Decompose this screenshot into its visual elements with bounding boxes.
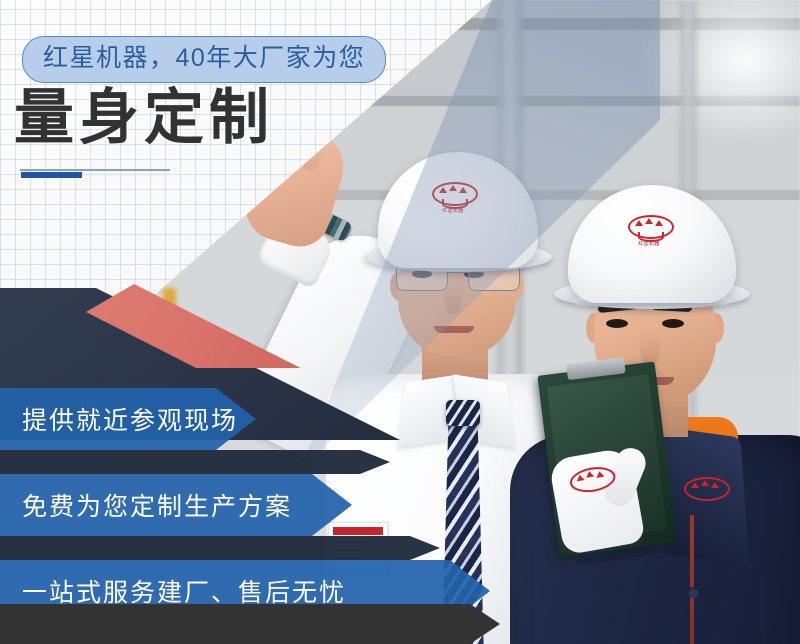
badge-red-band: [333, 527, 383, 535]
white-hard-hat: 红星机器: [568, 185, 736, 303]
jacket-zipper: [690, 515, 694, 644]
logo-star-icon: [711, 482, 719, 488]
promo-banner: 红星机器: [0, 0, 800, 644]
feature-bar-2-label: 免费为您定制生产方案: [0, 487, 292, 523]
title-underline-thick: [21, 172, 82, 178]
jacket-button: [688, 587, 699, 598]
logo-star-icon: [635, 220, 643, 226]
clipboard-paper: [547, 374, 667, 541]
feature-bar-1-label: 提供就近参观现场: [0, 401, 238, 437]
tagline-badge: 红星机器，40年大厂家为您: [22, 36, 386, 83]
bottom-chevron-bar: [0, 604, 500, 644]
necktie-knot: [446, 400, 480, 426]
feature-bar-3-label: 一站式服务建厂、售后无忧: [0, 573, 346, 609]
company-logo-icon: 红星机器: [626, 215, 672, 249]
logo-star-icon: [691, 482, 699, 488]
feature-bar-2: 免费为您定制生产方案: [0, 474, 352, 536]
clipboard: [537, 361, 676, 556]
divider-chevron-2: [0, 536, 440, 560]
logo-star-icon: [645, 218, 653, 224]
page-title: 量身定制: [14, 88, 274, 148]
title-underline-thin: [20, 169, 170, 171]
company-logo-icon: [682, 477, 710, 499]
logo-star-icon: [701, 480, 709, 486]
eye: [606, 319, 628, 328]
feature-bar-1: 提供就近参观现场: [0, 388, 256, 450]
divider-chevron-1: [0, 450, 390, 474]
logo-caption: 红星机器: [626, 240, 672, 247]
eye: [662, 319, 684, 328]
logo-star-icon: [655, 220, 663, 226]
